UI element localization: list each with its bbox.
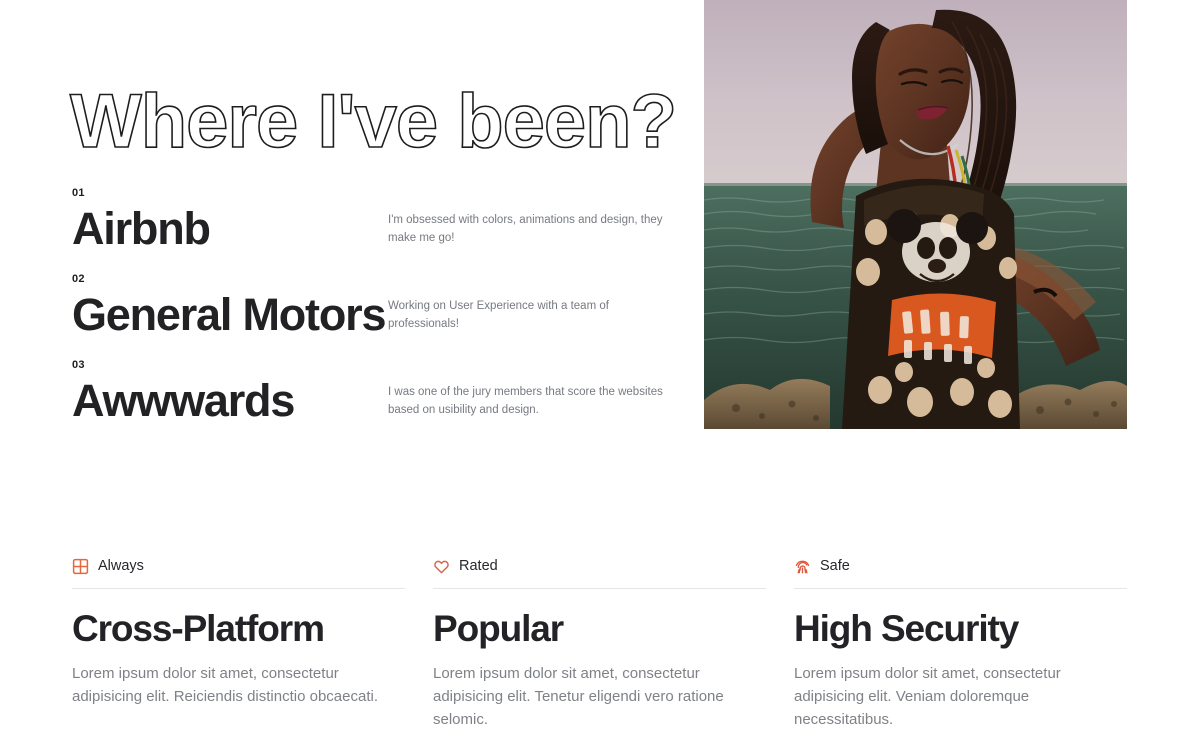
feature-card-popular: Rated Popular Lorem ipsum dolor sit amet…: [433, 558, 766, 732]
experience-item-general-motors[interactable]: 02 General Motors Working on User Experi…: [72, 274, 672, 360]
feature-cards: Always Cross-Platform Lorem ipsum dolor …: [72, 558, 1128, 732]
fingerprint-icon: [794, 558, 811, 575]
page-title: Where I've been?: [70, 84, 676, 160]
experience-description: Working on User Experience with a team o…: [388, 298, 663, 334]
hero-photo: [704, 0, 1127, 429]
experience-number: 01: [72, 188, 672, 199]
feature-card-title: Cross-Platform: [72, 609, 405, 649]
feature-card-label: Safe: [820, 559, 850, 574]
portrait-illustration: [704, 0, 1127, 429]
feature-card-body: Lorem ipsum dolor sit amet, consectetur …: [72, 662, 405, 709]
feature-card-label: Always: [98, 559, 144, 574]
experience-number: 03: [72, 360, 672, 371]
feature-card-title: Popular: [433, 609, 766, 649]
feature-card-high-security: Safe High Security Lorem ipsum dolor sit…: [794, 558, 1127, 732]
grid-icon: [72, 558, 89, 575]
feature-card-title: High Security: [794, 609, 1127, 649]
experience-item-awwwards[interactable]: 03 Awwwards I was one of the jury member…: [72, 360, 672, 446]
feature-card-body: Lorem ipsum dolor sit amet, consectetur …: [433, 662, 766, 732]
feature-card-cross-platform: Always Cross-Platform Lorem ipsum dolor …: [72, 558, 405, 732]
feature-card-header: Rated: [433, 558, 766, 589]
page-root: Where I've been? 01 Airbnb I'm obsessed …: [0, 0, 1200, 750]
experience-number: 02: [72, 274, 672, 285]
feature-card-label: Rated: [459, 559, 498, 574]
feature-card-header: Safe: [794, 558, 1127, 589]
feature-card-body: Lorem ipsum dolor sit amet, consectetur …: [794, 662, 1127, 732]
experience-description: I was one of the jury members that score…: [388, 384, 663, 420]
experience-item-airbnb[interactable]: 01 Airbnb I'm obsessed with colors, anim…: [72, 188, 672, 274]
experience-description: I'm obsessed with colors, animations and…: [388, 212, 663, 248]
experience-list: 01 Airbnb I'm obsessed with colors, anim…: [72, 188, 672, 446]
feature-card-header: Always: [72, 558, 405, 589]
heart-icon: [433, 558, 450, 575]
